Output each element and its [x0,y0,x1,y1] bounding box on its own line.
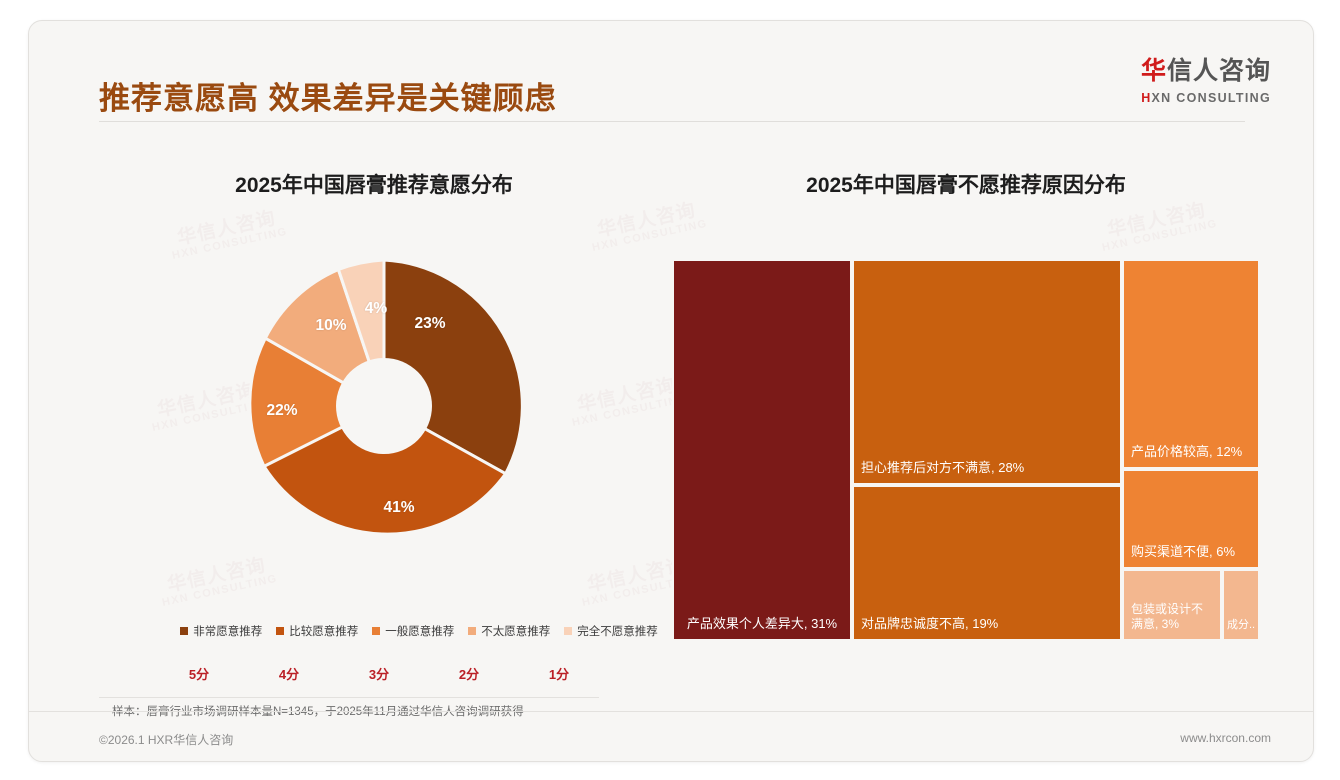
score-label-5: 5分 [169,664,229,683]
logo-cn-highlight: 华 [1141,57,1167,85]
legend-label-5: 完全不愿意推荐 [577,623,658,639]
legend-label-4: 不太愿意推荐 [481,623,550,639]
legend-swatch-icon [180,627,188,635]
donut-legend: 非常愿意推荐 比较愿意推荐 一般愿意推荐 不太愿意推荐 完全不愿意推荐 [149,623,689,639]
footer-website[interactable]: www.hxrcon.com [1180,731,1271,745]
treemap-tile-3[interactable]: 对品牌忠诚度不高, 19% [852,485,1122,641]
slide-header: 推荐意愿高 效果差异是关键顾虑 华信人咨询 HXN CONSULTING [29,21,1313,125]
score-label-4: 4分 [259,664,319,683]
donut-slice-label-4: 10% [315,317,346,335]
treemap-chart: 产品效果个人差异大, 31% 担心推荐后对方不满意, 28% 对品牌忠诚度不高,… [672,259,1260,641]
slide-card: 华信人咨询 HXN CONSULTING 华信人咨询 HXN CONSULTIN… [28,20,1314,762]
slide-footer: ©2026.1 HXR华信人咨询 www.hxrcon.com [29,721,1313,761]
treemap-tile-6[interactable]: 包装或设计不满意, 3% [1122,569,1222,641]
legend-item-1[interactable]: 非常愿意推荐 [180,623,262,639]
legend-label-2: 比较愿意推荐 [289,623,358,639]
treemap-tile-7[interactable]: 成分.. [1222,569,1260,641]
treemap-tile-2[interactable]: 担心推荐后对方不满意, 28% [852,259,1122,485]
donut-slice-label-3: 22% [266,402,297,420]
score-scale-row: 5分 4分 3分 2分 1分 [169,664,589,683]
logo-cn-rest: 信人咨询 [1167,57,1271,85]
treemap-tile-4[interactable]: 产品价格较高, 12% [1122,259,1260,469]
treemap-tile-1[interactable]: 产品效果个人差异大, 31% [672,259,852,641]
slide-root: 华信人咨询 HXN CONSULTING 华信人咨询 HXN CONSULTIN… [0,0,1340,780]
logo-en-highlight: H [1141,91,1151,105]
logo-chinese-text: 华信人咨询 [1141,59,1271,84]
treemap-tile-label-4: 产品价格较高, 12% [1124,444,1258,467]
legend-swatch-icon [468,627,476,635]
donut-chart: 23% 41% 22% 10% 4% [234,256,534,556]
legend-label-3: 一般愿意推荐 [385,623,454,639]
footnote-divider [99,697,599,698]
page-title: 推荐意愿高 效果差异是关键顾虑 [99,73,557,118]
treemap-tile-label-7: 成分.. [1224,619,1258,639]
score-label-2: 2分 [439,664,499,683]
treemap-chart-title: 2025年中国唇膏不愿推荐原因分布 [669,169,1263,199]
logo-en-rest: XN CONSULTING [1152,91,1271,105]
treemap-tile-5[interactable]: 购买渠道不便, 6% [1122,469,1260,569]
legend-label-1: 非常愿意推荐 [193,623,262,639]
logo-english-text: HXN CONSULTING [1141,91,1271,105]
treemap-tile-label-5: 购买渠道不便, 6% [1124,544,1258,567]
legend-item-5[interactable]: 完全不愿意推荐 [564,623,658,639]
donut-slice-label-5: 4% [365,300,387,318]
legend-swatch-icon [372,627,380,635]
header-divider [99,121,1245,122]
legend-item-3[interactable]: 一般愿意推荐 [372,623,454,639]
treemap-tile-label-2: 担心推荐后对方不满意, 28% [854,460,1120,483]
donut-slice-label-2: 41% [383,499,414,517]
legend-item-2[interactable]: 比较愿意推荐 [276,623,358,639]
legend-swatch-icon [276,627,284,635]
treemap-tile-label-3: 对品牌忠诚度不高, 19% [854,616,1120,639]
treemap-tile-label-6: 包装或设计不满意, 3% [1124,602,1220,639]
donut-hole [336,358,432,454]
footer-divider [29,711,1313,712]
donut-slice-label-1: 23% [414,315,445,333]
treemap-tile-label-1: 产品效果个人差异大, 31% [674,616,850,639]
footer-copyright: ©2026.1 HXR华信人咨询 [99,731,233,748]
company-logo: 华信人咨询 HXN CONSULTING [1141,59,1271,105]
legend-item-4[interactable]: 不太愿意推荐 [468,623,550,639]
legend-swatch-icon [564,627,572,635]
score-label-1: 1分 [529,664,589,683]
donut-chart-title: 2025年中国唇膏推荐意愿分布 [69,169,679,199]
score-label-3: 3分 [349,664,409,683]
